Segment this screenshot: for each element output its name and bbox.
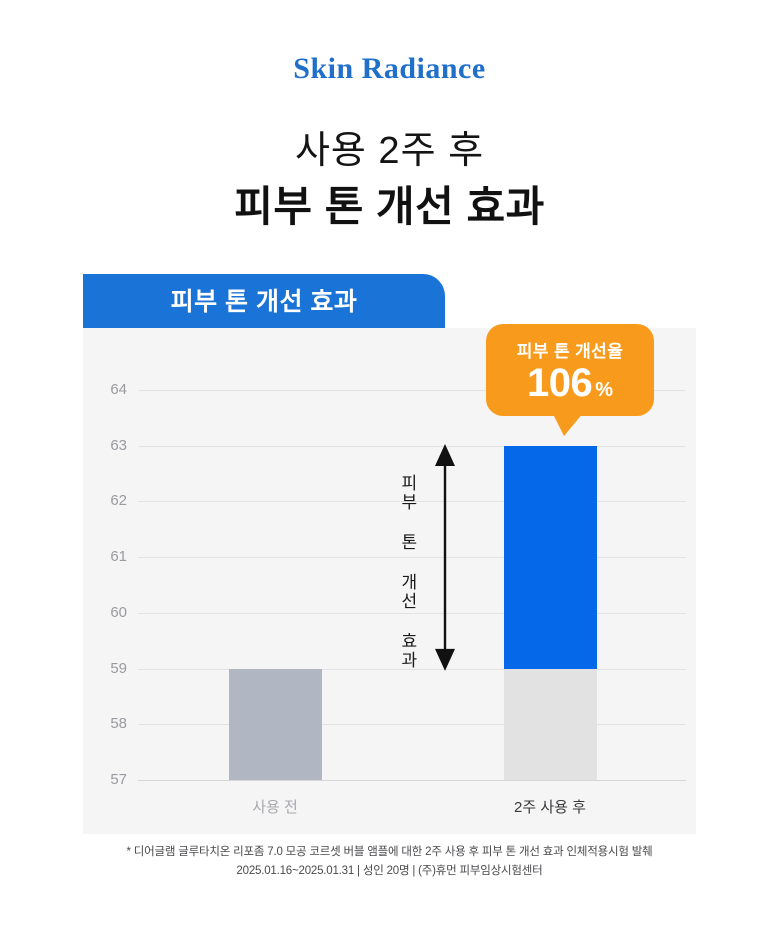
y-axis-tick-label: 62 <box>83 491 127 511</box>
gridline <box>138 724 686 725</box>
improvement-rate-unit: % <box>595 379 613 402</box>
y-axis-tick-label: 58 <box>83 714 127 734</box>
footnote-line-1: * 디어글램 글루타치온 리포좀 7.0 모공 코르셋 버블 앰플에 대한 2주… <box>0 843 779 862</box>
bar-after-baseline-segment <box>504 669 597 780</box>
footnote-line-2: 2025.01.16~2025.01.31 | 성인 20명 | (주)휴먼 피… <box>0 862 779 881</box>
y-axis-tick-label: 57 <box>83 770 127 790</box>
badge-tail-icon <box>552 412 584 436</box>
headline-subtitle: 사용 2주 후 <box>0 119 779 174</box>
x-axis-label-after: 2주 사용 후 <box>460 796 640 817</box>
y-axis-tick-label: 60 <box>83 603 127 623</box>
x-axis-line <box>138 780 686 781</box>
y-axis-tick-label: 63 <box>83 436 127 456</box>
y-axis-tick-label: 59 <box>83 659 127 679</box>
y-axis-tick-label: 64 <box>83 380 127 400</box>
improvement-rate-value: 106 <box>527 361 592 406</box>
gridline <box>138 446 686 447</box>
bar-after-improvement-segment <box>504 446 597 669</box>
chart-header-tab: 피부 톤 개선 효과 <box>83 274 445 328</box>
improvement-double-arrow-icon <box>425 444 465 671</box>
improvement-rate-badge: 피부 톤 개선율 106 % <box>486 324 654 416</box>
x-axis-label-before: 사용 전 <box>185 796 365 817</box>
improvement-rate-value-row: 106 % <box>527 361 613 406</box>
improvement-annotation-label: 피부 톤 개선 효과 <box>398 474 416 670</box>
footnote: * 디어글램 글루타치온 리포좀 7.0 모공 코르셋 버블 앰플에 대한 2주… <box>0 843 779 881</box>
page-title: 피부 톤 개선 효과 <box>0 173 779 234</box>
chart-header-tab-label: 피부 톤 개선 효과 <box>171 282 358 320</box>
improvement-rate-label: 피부 톤 개선율 <box>517 337 624 362</box>
brand-name: Skin Radiance <box>0 52 779 86</box>
y-axis-tick-label: 61 <box>83 547 127 567</box>
bar-before <box>229 669 322 780</box>
